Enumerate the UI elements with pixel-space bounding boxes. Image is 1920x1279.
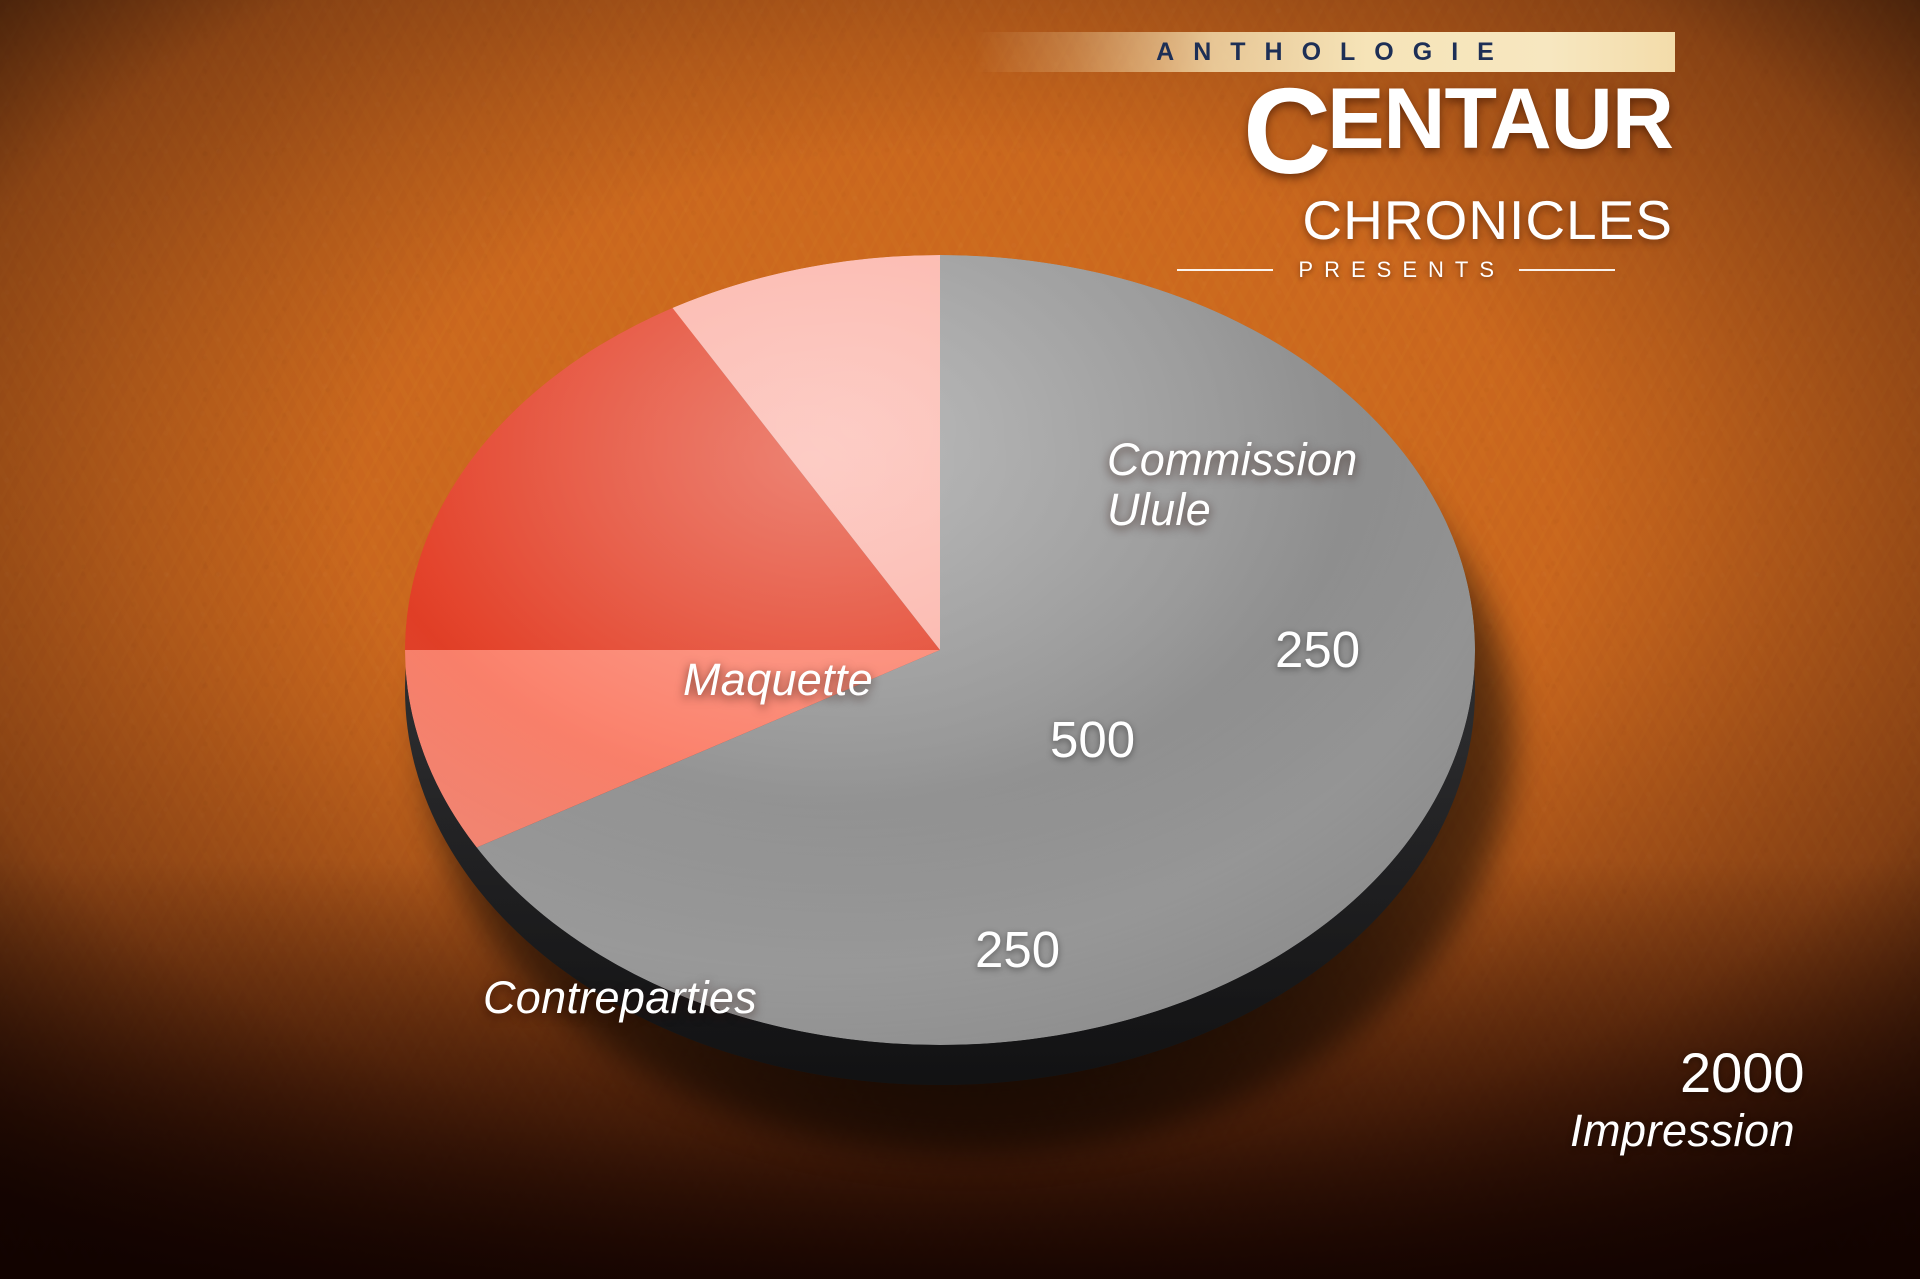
centaur-initial-c: C [1243, 63, 1327, 199]
pie-label-contreparties: Contreparties [483, 973, 757, 1023]
pie-label-commission-line1: Commission [1107, 435, 1358, 485]
pie-top-face [405, 255, 1475, 1045]
chronicles-wordmark-row: CHRONICLES [1302, 188, 1673, 252]
slide-canvas: ANTHOLOGIE CENTAUR CHRONICLES PRESENTS [0, 0, 1920, 1279]
centaur-wordmark: CENTAUR CHRONICLES PRESENTS [975, 70, 1675, 162]
centaur-rest-letters: ENTAUR [1327, 71, 1673, 167]
chronicles-label: CHRONICLES [1302, 189, 1673, 251]
pie-label-commission-ulule: CommissionUlule [1107, 435, 1358, 536]
pie-slices-svg [405, 255, 1475, 1045]
centaur-chronicles-logo: ANTHOLOGIE CENTAUR CHRONICLES PRESENTS [975, 18, 1675, 248]
pie-label-commission-line2: Ulule [1107, 485, 1358, 535]
presents-rule-right [1519, 269, 1615, 271]
budget-pie-chart: CommissionUlule Maquette Contreparties 2… [395, 255, 1525, 1205]
pie-label-maquette: Maquette [683, 655, 873, 705]
